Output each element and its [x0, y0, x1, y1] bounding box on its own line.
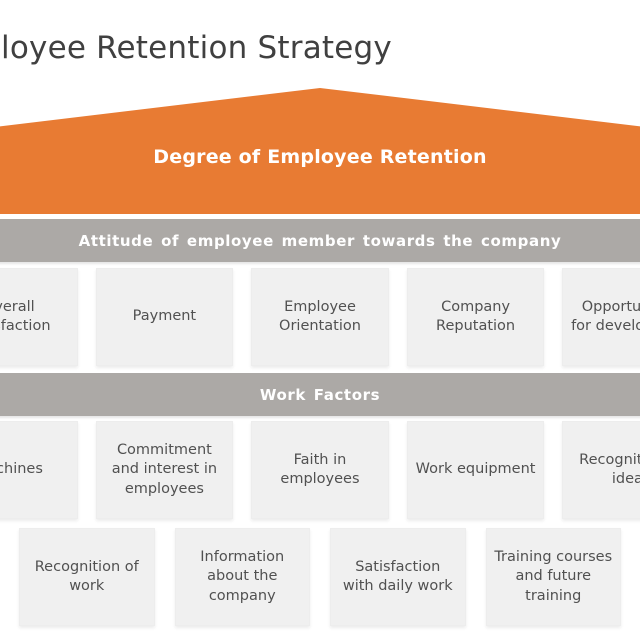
box-faith-in-employees[interactable]: Faith in employees: [251, 421, 389, 519]
box-payment[interactable]: Payment: [96, 268, 234, 366]
page-title: Employee Retention Strategy: [0, 30, 640, 66]
roof-shape-group[interactable]: Degree of Employee Retention: [0, 88, 640, 214]
row-attitude-boxes: Overall satisfaction Payment Employee Or…: [0, 268, 640, 366]
box-recognition-of-work[interactable]: Recognition of work: [19, 528, 155, 626]
box-satisfaction-daily-work[interactable]: Satisfaction with daily work: [330, 528, 466, 626]
band-work-factors-label: Work Factors: [0, 373, 640, 416]
box-work-equipment[interactable]: Work equipment: [407, 421, 545, 519]
box-recognition-of-ideas[interactable]: Recognition of ideas: [562, 421, 640, 519]
box-machines[interactable]: Machines: [0, 421, 78, 519]
box-employee-orientation[interactable]: Employee Orientation: [251, 268, 389, 366]
box-opportunities-development[interactable]: Opportunities for development: [562, 268, 640, 366]
row-work-factor-boxes: Machines Commitment and interest in empl…: [0, 421, 640, 519]
roof-label: Degree of Employee Retention: [0, 146, 640, 170]
box-information-company[interactable]: Information about the company: [175, 528, 311, 626]
slide-canvas: Employee Retention Strategy Degree of Em…: [0, 0, 640, 640]
box-commitment-interest[interactable]: Commitment and interest in employees: [96, 421, 234, 519]
box-company-reputation[interactable]: Company Reputation: [407, 268, 545, 366]
band-work-factors[interactable]: Work Factors: [0, 373, 640, 416]
band-attitude[interactable]: Attitude of employee member towards the …: [0, 219, 640, 262]
box-overall-satisfaction[interactable]: Overall satisfaction: [0, 268, 78, 366]
row-bottom-boxes: Recognition of work Information about th…: [9, 528, 631, 626]
band-attitude-label: Attitude of employee member towards the …: [0, 219, 640, 262]
box-training-courses[interactable]: Training courses and future training: [486, 528, 622, 626]
